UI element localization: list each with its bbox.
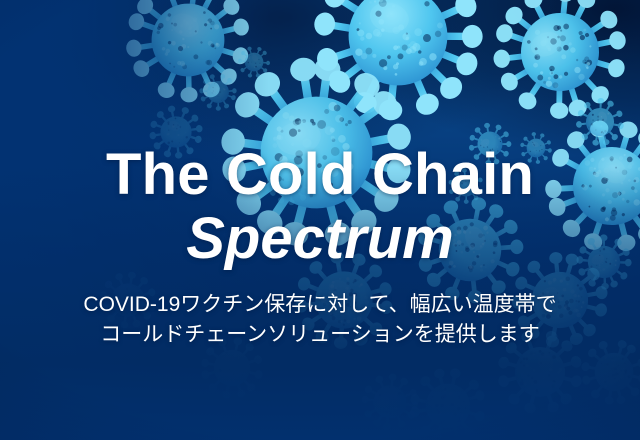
- banner-subtitle-line-1: COVID-19ワクチン保存に対して、幅広い温度帯で: [83, 290, 556, 320]
- banner-title-line-1: The Cold Chain: [106, 146, 534, 204]
- cold-chain-spectrum-banner: The Cold Chain Spectrum COVID-19ワクチン保存に対…: [0, 0, 640, 440]
- banner-subtitle: COVID-19ワクチン保存に対して、幅広い温度帯で コールドチェーンソリューシ…: [83, 290, 556, 350]
- banner-content: The Cold Chain Spectrum COVID-19ワクチン保存に対…: [0, 0, 640, 440]
- banner-title-group: The Cold Chain Spectrum: [106, 146, 534, 268]
- banner-title-line-2: Spectrum: [106, 210, 534, 268]
- banner-subtitle-line-2: コールドチェーンソリューションを提供します: [83, 320, 556, 350]
